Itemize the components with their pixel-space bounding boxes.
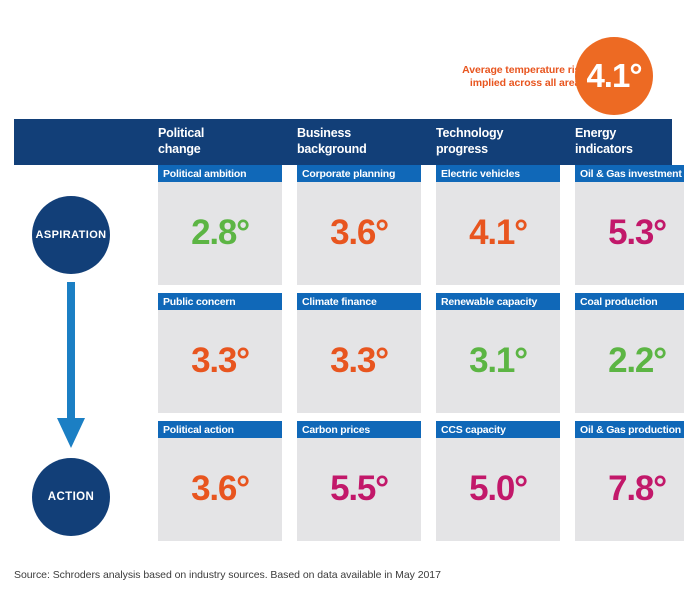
indicator-matrix: Politicalchange Businessbackground Techn…: [14, 119, 672, 549]
cell-spacer: [158, 285, 282, 293]
cell-label: Corporate planning: [297, 165, 421, 182]
cell-value: 3.3°: [330, 343, 388, 378]
cell-body: 5.0°: [436, 438, 560, 541]
cell-label: Oil & Gas investment: [575, 165, 684, 182]
cell-label: Carbon prices: [297, 421, 421, 438]
cell-label: Political ambition: [158, 165, 282, 182]
cell-body: 3.1°: [436, 310, 560, 413]
cell-value: 5.3°: [608, 215, 666, 250]
cell-spacer: [575, 413, 684, 421]
cell-label: Climate finance: [297, 293, 421, 310]
cell-value: 5.0°: [469, 471, 527, 506]
matrix-cell: Carbon prices 5.5°: [297, 421, 421, 541]
cell-label: Political action: [158, 421, 282, 438]
matrix-cell: Political action 3.6°: [158, 421, 282, 541]
cell-body: 5.3°: [575, 182, 684, 285]
matrix-column-political-change: Political ambition 2.8° Public concern 3…: [158, 165, 282, 541]
matrix-cell: Oil & Gas production 7.8°: [575, 421, 684, 541]
cell-body: 3.6°: [158, 438, 282, 541]
cell-value: 3.6°: [191, 471, 249, 506]
matrix-cell: Coal production 2.2°: [575, 293, 684, 413]
cell-label: Electric vehicles: [436, 165, 560, 182]
cell-spacer: [158, 413, 282, 421]
cell-value: 3.6°: [330, 215, 388, 250]
column-title-0: Politicalchange: [158, 126, 204, 157]
matrix-cell: Political ambition 2.8°: [158, 165, 282, 285]
matrix-cell: Renewable capacity 3.1°: [436, 293, 560, 413]
cell-value: 4.1°: [469, 215, 527, 250]
cell-body: 3.6°: [297, 182, 421, 285]
matrix-cell: CCS capacity 5.0°: [436, 421, 560, 541]
column-title-3: Energyindicators: [575, 126, 633, 157]
summary-block: Average temperature riseimplied across a…: [420, 20, 684, 115]
matrix-cell: Public concern 3.3°: [158, 293, 282, 413]
matrix-cell: Corporate planning 3.6°: [297, 165, 421, 285]
cell-spacer: [297, 285, 421, 293]
summary-label: Average temperature riseimplied across a…: [436, 64, 586, 90]
column-title-1: Businessbackground: [297, 126, 367, 157]
cell-value: 3.1°: [469, 343, 527, 378]
cell-spacer: [436, 413, 560, 421]
summary-circle: 4.1°: [575, 37, 653, 115]
cell-label: Oil & Gas production: [575, 421, 684, 438]
matrix-cell: Oil & Gas investment 5.3°: [575, 165, 684, 285]
cell-spacer: [297, 413, 421, 421]
cell-label: Renewable capacity: [436, 293, 560, 310]
source-note: Source: Schroders analysis based on indu…: [14, 569, 441, 581]
column-title-2: Technologyprogress: [436, 126, 503, 157]
matrix-column-energy-indicators: Oil & Gas investment 5.3° Coal productio…: [575, 165, 684, 541]
cell-label: CCS capacity: [436, 421, 560, 438]
cell-body: 2.8°: [158, 182, 282, 285]
cell-label: Coal production: [575, 293, 684, 310]
cell-spacer: [436, 285, 560, 293]
cell-value: 7.8°: [608, 471, 666, 506]
summary-value: 4.1°: [586, 59, 641, 92]
cell-body: 5.5°: [297, 438, 421, 541]
cell-value: 2.2°: [608, 343, 666, 378]
matrix-cell: Climate finance 3.3°: [297, 293, 421, 413]
cell-body: 2.2°: [575, 310, 684, 413]
cell-value: 2.8°: [191, 215, 249, 250]
cell-body: 7.8°: [575, 438, 684, 541]
cell-spacer: [575, 285, 684, 293]
cell-body: 4.1°: [436, 182, 560, 285]
matrix-column-technology-progress: Electric vehicles 4.1° Renewable capacit…: [436, 165, 560, 541]
cell-label: Public concern: [158, 293, 282, 310]
cell-body: 3.3°: [158, 310, 282, 413]
cell-body: 3.3°: [297, 310, 421, 413]
cell-value: 5.5°: [330, 471, 388, 506]
cell-value: 3.3°: [191, 343, 249, 378]
matrix-column-business-background: Corporate planning 3.6° Climate finance …: [297, 165, 421, 541]
matrix-cell: Electric vehicles 4.1°: [436, 165, 560, 285]
